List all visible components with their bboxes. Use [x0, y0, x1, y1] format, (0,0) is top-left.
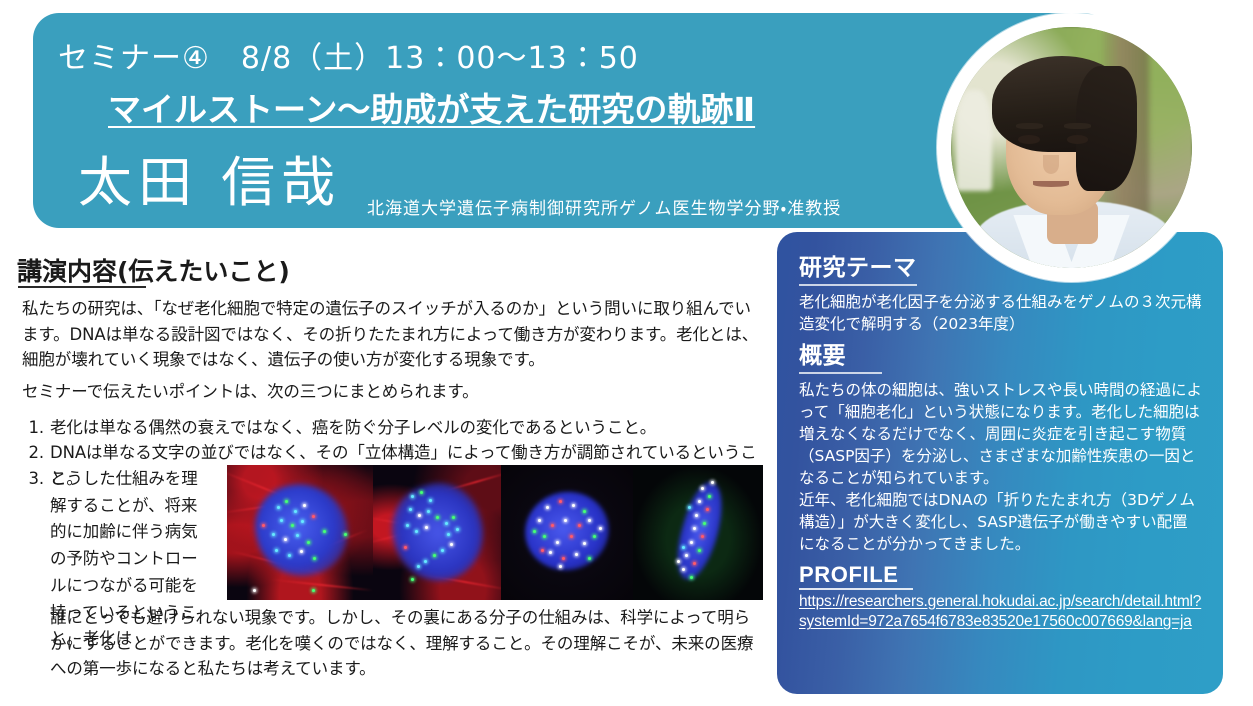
intro-paragraph: 私たちの研究は、「なぜ老化細胞で特定の遺伝子のスイッチが入るのか」という問いに取… [22, 296, 762, 373]
microscopy-panel-1 [227, 465, 373, 600]
closing-paragraph: 誰にとっても避けられない現象です。しかし、その裏にある分子の仕組みは、科学によっ… [50, 605, 765, 682]
panel-4-fish-spots [633, 465, 763, 600]
microscopy-panel-2 [373, 465, 501, 600]
portrait-image [951, 27, 1192, 268]
microscopy-panel-3 [501, 465, 633, 600]
speaker-name: 太田 信哉 [78, 156, 341, 210]
microscopy-panel-4 [633, 465, 763, 600]
microscopy-image-strip [227, 465, 763, 600]
panel-2-fish-spots [373, 465, 501, 600]
lecture-content-heading-rule [18, 286, 146, 288]
speaker-portrait [937, 13, 1206, 282]
portrait-eyebrow-right [1064, 123, 1091, 129]
list-item-number: 2. [14, 440, 44, 466]
panel-3-fish-spots [501, 465, 633, 600]
portrait-mouth [1033, 181, 1069, 186]
list-item-number: 3. [14, 466, 44, 492]
portrait-building-window [956, 90, 992, 191]
speaker-affiliation: 北海道大学遺伝子病制御研究所ゲノム医生物学分野・准教授 [367, 194, 841, 219]
list-item-number: 1. [14, 415, 44, 441]
session-datetime-line: セミナー④ 8/8（土）13：00〜13：50 [58, 33, 639, 77]
overview-text-part-1: 私たちの体の細胞は、強いストレスや長い時間の経過によって「細胞老化」という状態に… [799, 379, 1203, 489]
seminar-poster: セミナー④ 8/8（土）13：00〜13：50 マイルストーン〜助成が支えた研究… [0, 0, 1253, 706]
portrait-eyebrow-left [1016, 123, 1043, 129]
panel-left-margin [766, 232, 777, 694]
panel-1-fish-spots [227, 465, 373, 600]
research-info-panel: 研究テーマ 老化細胞が老化因子を分泌する仕組みをゲノムの３次元構造変化で解明する… [777, 232, 1223, 694]
profile-heading: PROFILE [799, 562, 913, 590]
profile-url-link[interactable]: https://researchers.general.hokudai.ac.j… [799, 592, 1203, 634]
overview-text-part-2: 近年、老化細胞ではDNAの「折りたたまれ方（3Dゲノム構造）」が大きく変化し、S… [799, 489, 1203, 555]
points-lead-paragraph: セミナーで伝えたいポイントは、次の三つにまとめられます。 [22, 379, 762, 405]
seminar-title: マイルストーン〜助成が支えた研究の軌跡Ⅱ [108, 83, 755, 131]
research-theme-heading: 研究テーマ [799, 254, 917, 286]
list-item-label: 老化は単なる偶然の衰えではなく、癌を防ぐ分子レベルの変化であるということ。 [50, 415, 656, 441]
research-theme-text: 老化細胞が老化因子を分泌する仕組みをゲノムの３次元構造変化で解明する（2023年… [799, 291, 1203, 335]
overview-heading: 概要 [799, 342, 882, 374]
lecture-content-heading: 講演内容(伝えたいこと) [17, 252, 290, 288]
